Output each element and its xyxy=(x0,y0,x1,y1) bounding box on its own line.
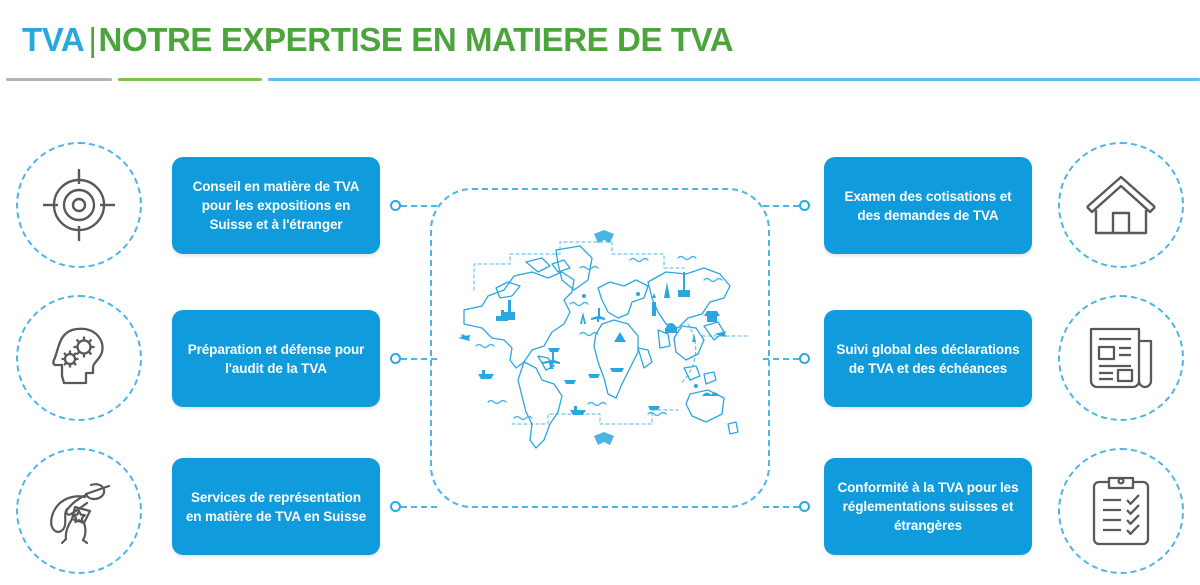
connector-dot-right-3 xyxy=(799,501,810,512)
target-icon xyxy=(41,167,117,243)
underline-segment-blue xyxy=(268,78,1200,81)
info-card-text: Préparation et défense pour l'audit de l… xyxy=(184,340,368,378)
info-card-right-1[interactable]: Examen des cotisations et des demandes d… xyxy=(824,157,1032,254)
page-header: TVA|NOTRE EXPERTISE EN MATIERE DE TVA xyxy=(0,0,1200,100)
info-card-text: Conformité à la TVA pour les réglementat… xyxy=(836,478,1020,535)
info-card-text: Suivi global des déclarations de TVA et … xyxy=(836,340,1020,378)
info-card-left-1[interactable]: Conseil en matière de TVA pour les expos… xyxy=(172,157,380,254)
diagram-stage: Conseil en matière de TVA pour les expos… xyxy=(0,100,1200,585)
underline-segment-green xyxy=(118,78,262,81)
connector-dot-left-1 xyxy=(390,200,401,211)
clipboard-check-icon xyxy=(1090,474,1152,548)
info-card-text: Conseil en matière de TVA pour les expos… xyxy=(184,177,368,234)
connector-line-right-1 xyxy=(763,205,799,207)
connector-dot-right-1 xyxy=(799,200,810,211)
connector-line-right-3 xyxy=(763,506,799,508)
icon-bubble-superhero xyxy=(16,448,142,574)
house-icon xyxy=(1083,169,1159,241)
icon-bubble-target xyxy=(16,142,142,268)
connector-dot-right-2 xyxy=(799,353,810,364)
info-card-right-2[interactable]: Suivi global des déclarations de TVA et … xyxy=(824,310,1032,407)
icon-bubble-newspaper xyxy=(1058,295,1184,421)
connector-dot-left-2 xyxy=(390,353,401,364)
page-title: TVA|NOTRE EXPERTISE EN MATIERE DE TVA xyxy=(22,20,733,60)
title-secondary: NOTRE EXPERTISE EN MATIERE DE TVA xyxy=(99,21,734,58)
newspaper-icon xyxy=(1085,323,1157,393)
icon-bubble-head-gears xyxy=(16,295,142,421)
world-map-illustration xyxy=(452,228,752,458)
info-card-left-3[interactable]: Services de représentation en matière de… xyxy=(172,458,380,555)
connector-line-left-1 xyxy=(401,205,437,207)
underline-segment-gray xyxy=(6,78,112,81)
info-card-right-3[interactable]: Conformité à la TVA pour les réglementat… xyxy=(824,458,1032,555)
head-gears-icon xyxy=(42,321,116,395)
connector-line-left-3 xyxy=(401,506,437,508)
info-card-text: Services de représentation en matière de… xyxy=(184,488,368,526)
info-card-left-2[interactable]: Préparation et défense pour l'audit de l… xyxy=(172,310,380,407)
connector-dot-left-3 xyxy=(390,501,401,512)
info-card-text: Examen des cotisations et des demandes d… xyxy=(836,187,1020,225)
superhero-icon xyxy=(41,473,117,549)
icon-bubble-clipboard-check xyxy=(1058,448,1184,574)
title-underline xyxy=(0,78,1200,82)
icon-bubble-house xyxy=(1058,142,1184,268)
title-primary: TVA xyxy=(22,21,84,58)
title-separator: | xyxy=(88,21,96,58)
